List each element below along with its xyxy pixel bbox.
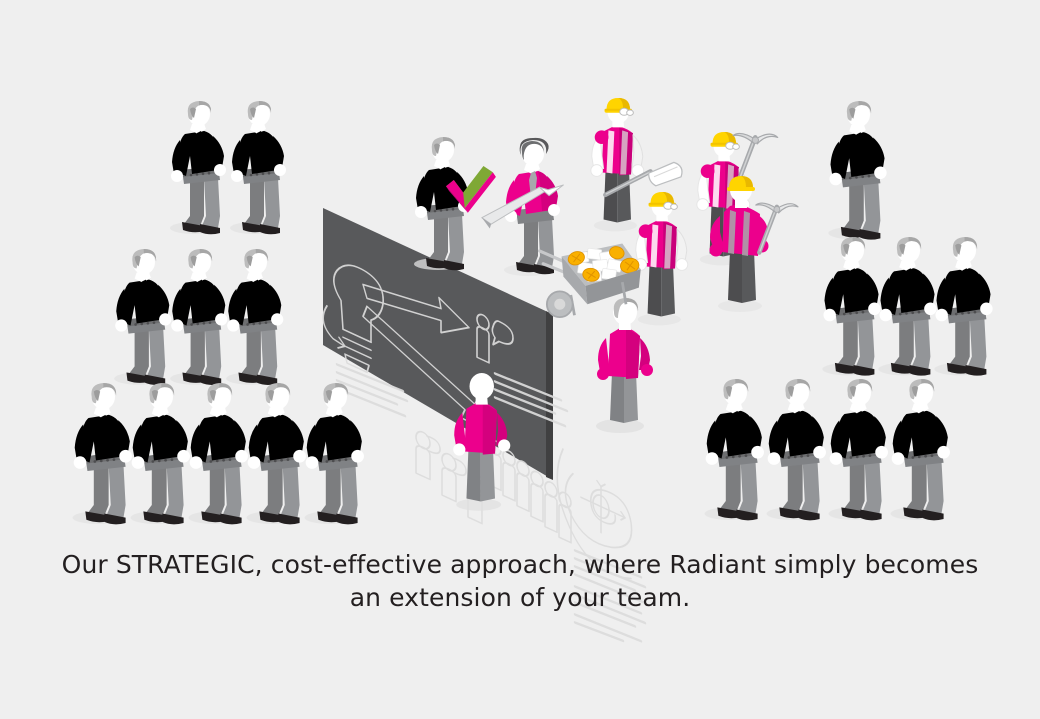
caption-block: Our STRATEGIC, cost-effective approach, … — [0, 548, 1040, 614]
caption-line-2: an extension of your team. — [0, 581, 1040, 614]
illustration-canvas: .biz-yellow .shirt-main{fill:#f9b000;} .… — [0, 0, 1040, 719]
group-mid-left — [114, 249, 283, 385]
group-mid-right — [822, 237, 992, 376]
caption-line-1: Our STRATEGIC, cost-effective approach, … — [0, 548, 1040, 581]
